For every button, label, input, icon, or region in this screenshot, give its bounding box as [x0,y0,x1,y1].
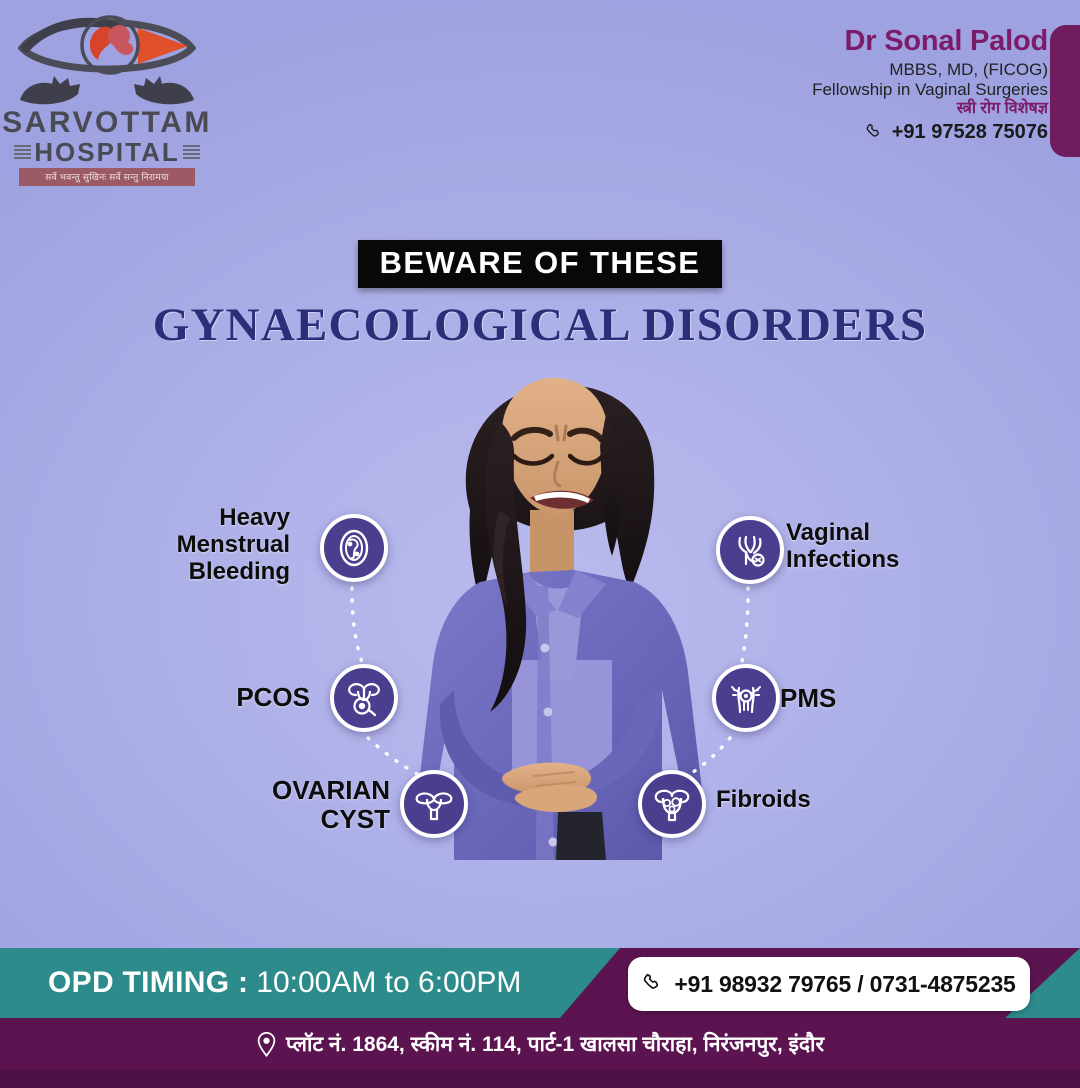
doctor-fellowship: Fellowship in Vaginal Surgeries [812,80,1048,100]
opd-timing: OPD TIMING : 10:00AM to 6:00PM [48,948,521,1018]
hospital-logo: SARVOTTAM HOSPITAL सर्वे भवन्तु सुखिनः स… [12,8,202,186]
vaginal-infection-icon [728,528,772,572]
footer-phone-number: +91 98932 79765 / 0731-4875235 [674,971,1015,998]
icon-node-pms[interactable] [712,664,780,732]
label-heavy-menstrual-bleeding: HeavyMenstrualBleeding [90,505,290,586]
doctor-info: Dr Sonal Palod MBBS, MD, (FICOG) Fellows… [812,24,1048,145]
opd-label: OPD TIMING : [48,966,248,1000]
hospital-name-line2: HOSPITAL [34,139,180,165]
label-pcos: PCOS [130,683,310,712]
footer-phone-pill[interactable]: +91 98932 79765 / 0731-4875235 [628,957,1030,1011]
hospital-name-line1: SARVOTTAM [2,109,212,138]
phone-icon [642,973,665,996]
doctor-specialty-hindi: स्त्री रोग विशेषज्ञ [812,100,1048,119]
headline-block: BEWARE OF THESE GYNAECOLOGICAL DISORDERS [0,240,1080,352]
icon-node-heavy-menstrual-bleeding[interactable] [320,514,388,582]
pcos-ovary-icon [342,676,386,720]
footer-address: प्लॉट नं. 1864, स्कीम नं. 114, पार्ट-1 ख… [0,1018,1080,1070]
uterine-fibroids-icon [650,782,694,826]
headline-kicker: BEWARE OF THESE [358,240,723,288]
page-title: GYNAECOLOGICAL DISORDERS [0,298,1080,352]
icon-node-ovarian-cyst[interactable] [400,770,468,838]
poster-canvas: SARVOTTAM HOSPITAL सर्वे भवन्तु सुखिनः स… [0,0,1080,1088]
opd-value: 10:00AM to 6:00PM [256,966,521,1000]
icon-node-vaginal-infections[interactable] [716,516,784,584]
doctor-phone[interactable]: +91 97528 75076 [812,121,1048,145]
eye-logo-icon [18,8,196,80]
icon-node-pcos[interactable] [330,664,398,732]
footer-address-text: प्लॉट नं. 1864, स्कीम नं. 114, पार्ट-1 ख… [286,1030,824,1058]
hospital-tagline: सर्वे भवन्तु सुखिनः सर्वे सन्तु निरामया [19,168,195,187]
logo-left-bars [14,145,31,159]
doctor-name: Dr Sonal Palod [812,24,1048,58]
corner-decoration [1050,25,1080,157]
label-ovarian-cyst: OVARIANCYST [170,776,390,834]
label-vaginal-infections: VaginalInfections [786,520,996,574]
uterus-heavy-bleeding-icon [332,526,376,570]
logo-right-bars [183,145,200,159]
label-fibroids: Fibroids [716,787,916,814]
ovarian-cyst-icon [412,782,456,826]
label-pms: PMS [780,684,940,713]
doctor-degrees: MBBS, MD, (FICOG) [812,60,1048,80]
phone-icon [865,123,885,143]
doctor-phone-number: +91 97528 75076 [892,121,1048,145]
pms-cramps-icon [724,676,768,720]
footer-strip [0,1070,1080,1088]
icon-node-fibroids[interactable] [638,770,706,838]
footer-bar: OPD TIMING : 10:00AM to 6:00PM +91 98932… [0,948,1080,1088]
location-pin-icon [256,1032,277,1056]
